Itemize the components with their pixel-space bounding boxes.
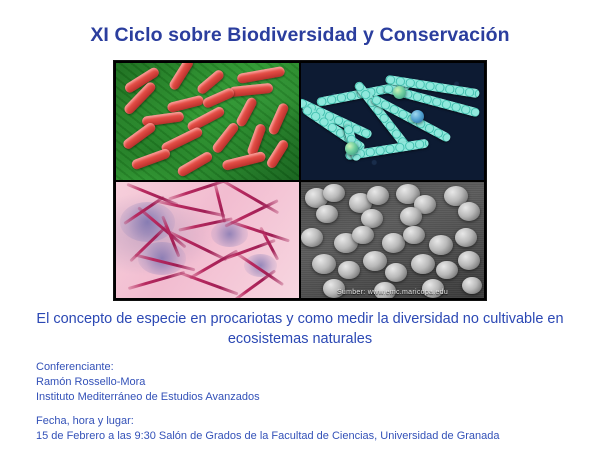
page-title: XI Ciclo sobre Biodiversidad y Conservac… bbox=[0, 25, 600, 46]
speaker-heading: Conferenciante: bbox=[36, 360, 260, 375]
speaker-info-block: Conferenciante: Ramón Rossello-Mora Inst… bbox=[36, 360, 260, 406]
presentation-slide: XI Ciclo sobre Biodiversidad y Conservac… bbox=[0, 0, 600, 450]
event-details: 15 de Febrero a las 9:30 Salón de Grados… bbox=[36, 429, 500, 444]
image-source-caption: Sumber: www.emc.maricopa.edu bbox=[301, 289, 484, 296]
speaker-affiliation: Instituto Mediterráneo de Estudios Avanz… bbox=[36, 390, 260, 405]
speaker-name: Ramón Rossello-Mora bbox=[36, 375, 260, 390]
red-rod-bacteria-micrograph bbox=[116, 63, 299, 180]
slide-subtitle: El concepto de especie en procariotas y … bbox=[30, 310, 570, 349]
bacteria-image-collage: Sumber: www.emc.maricopa.edu bbox=[113, 60, 487, 301]
gram-stain-filaments-micrograph bbox=[116, 182, 299, 299]
event-details-block: Fecha, hora y lugar: 15 de Febrero a las… bbox=[36, 414, 500, 444]
sem-cocci-clusters-micrograph: Sumber: www.emc.maricopa.edu bbox=[301, 182, 484, 299]
event-heading: Fecha, hora y lugar: bbox=[36, 414, 500, 429]
cyan-streptococcus-chains-micrograph bbox=[301, 63, 484, 180]
